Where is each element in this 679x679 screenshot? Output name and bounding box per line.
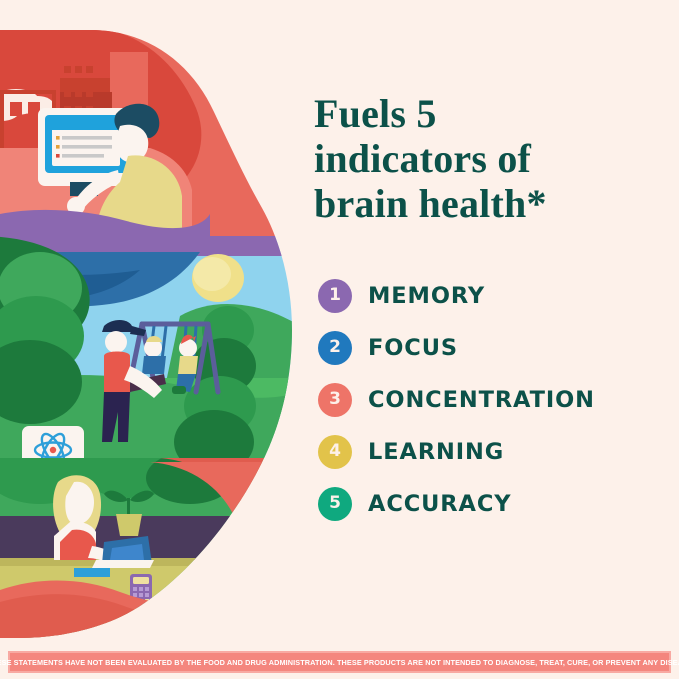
indicator-label-focus: FOCUS (368, 335, 458, 361)
list-item: 5 ACCURACY (318, 478, 664, 530)
brain-half-lifestyle-illustration (0, 30, 300, 638)
list-item: 3 CONCENTRATION (318, 374, 664, 426)
badge-number-1: 1 (318, 279, 352, 313)
badge-number-2: 2 (318, 331, 352, 365)
list-item: 4 LEARNING (318, 426, 664, 478)
badge-number-3: 3 (318, 383, 352, 417)
badge-number-4: 4 (318, 435, 352, 469)
list-item: 2 FOCUS (318, 322, 664, 374)
sun-icon (192, 254, 244, 302)
content-column: Fuels 5 indicators of brain health* 1 ME… (314, 92, 664, 226)
home-study-scene (0, 436, 300, 638)
badge-number-5: 5 (318, 487, 352, 521)
disclaimer-text: *THESE STATEMENTS HAVE NOT BEEN EVALUATE… (0, 658, 679, 667)
park-playground-scene (0, 236, 300, 493)
disclaimer-bar: *THESE STATEMENTS HAVE NOT BEEN EVALUATE… (8, 651, 671, 673)
indicator-list: 1 MEMORY 2 FOCUS 3 CONCENTRATION 4 LEARN… (318, 270, 664, 530)
page-title: Fuels 5 indicators of brain health* (314, 92, 664, 226)
indicator-label-accuracy: ACCURACY (368, 491, 511, 517)
city-desk-scene (0, 30, 300, 236)
indicator-label-memory: MEMORY (368, 283, 485, 309)
indicator-label-concentration: CONCENTRATION (368, 387, 595, 413)
poster-canvas: Fuels 5 indicators of brain health* 1 ME… (0, 0, 679, 679)
list-item: 1 MEMORY (318, 270, 664, 322)
indicator-label-learning: LEARNING (368, 439, 504, 465)
